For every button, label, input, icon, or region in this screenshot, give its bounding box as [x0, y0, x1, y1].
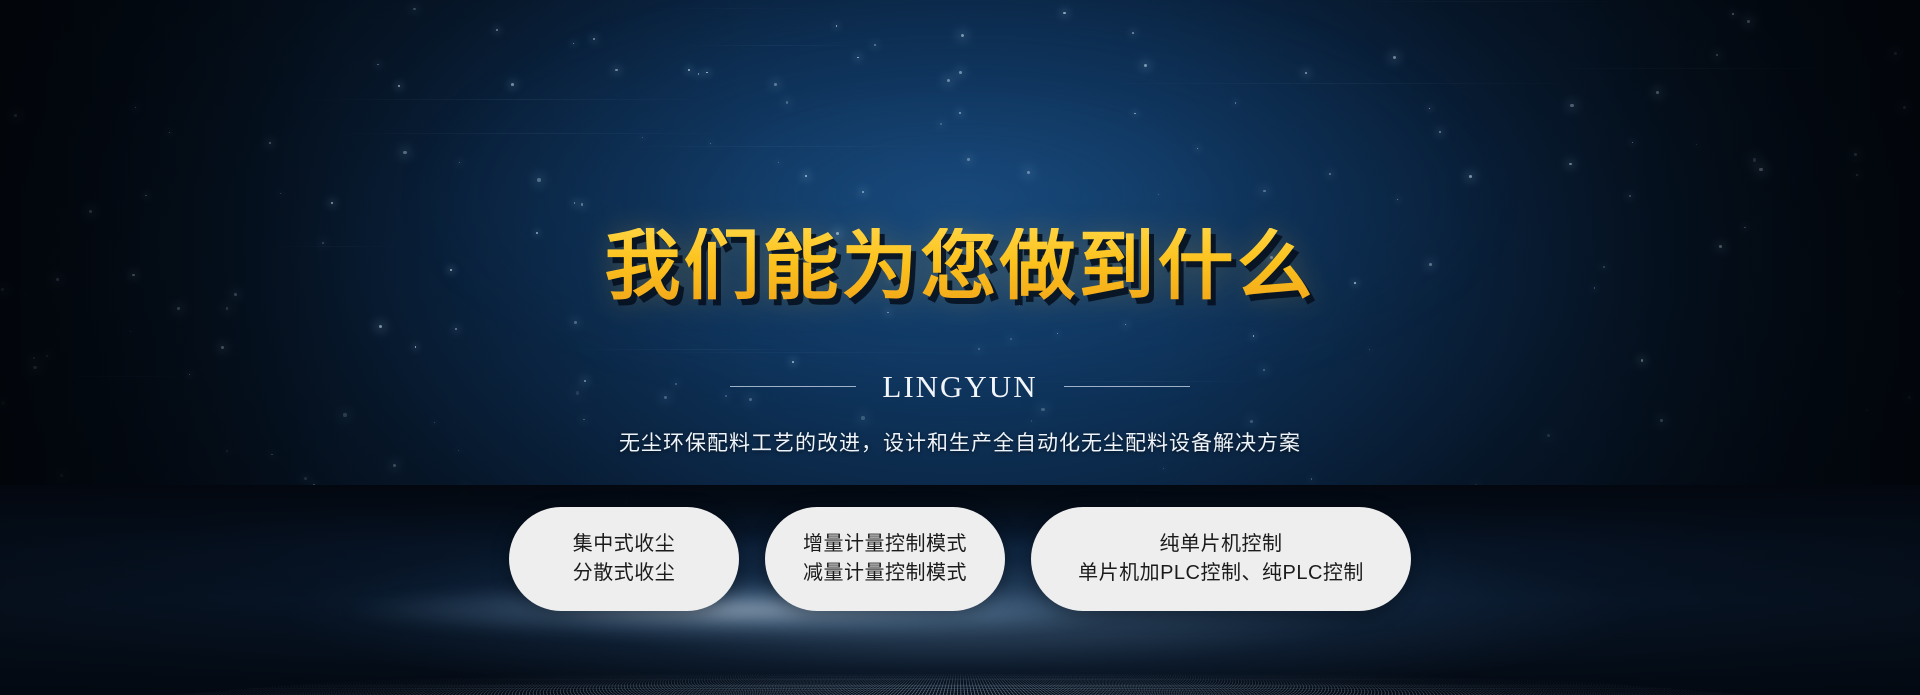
feature-card-metering-control-mode[interactable]: 增量计量控制模式 减量计量控制模式 — [765, 507, 1005, 611]
feature-card-list: 集中式收尘 分散式收尘 增量计量控制模式 减量计量控制模式 纯单片机控制 单片机… — [509, 507, 1411, 611]
page-title: 我们能为您做到什么 — [605, 228, 1316, 304]
banner-content: 我们能为您做到什么 LINGYUN 无尘环保配料工艺的改进，设计和生产全自动化无… — [0, 0, 1920, 695]
divider-line-right — [1064, 386, 1190, 387]
tagline: 无尘环保配料工艺的改进，设计和生产全自动化无尘配料设备解决方案 — [619, 427, 1301, 457]
card-line: 减量计量控制模式 — [803, 563, 967, 583]
card-line: 分散式收尘 — [573, 563, 676, 583]
card-line: 集中式收尘 — [573, 534, 676, 554]
card-line: 增量计量控制模式 — [803, 534, 967, 554]
brand-name-en: LINGYUN — [882, 369, 1037, 405]
card-line: 纯单片机控制 — [1160, 534, 1283, 554]
feature-card-dust-collection[interactable]: 集中式收尘 分散式收尘 — [509, 507, 739, 611]
divider-line-left — [730, 386, 856, 387]
card-line: 单片机加PLC控制、纯PLC控制 — [1078, 563, 1364, 583]
feature-card-controller-type[interactable]: 纯单片机控制 单片机加PLC控制、纯PLC控制 — [1031, 507, 1411, 611]
brand-divider-row: LINGYUN — [730, 369, 1189, 405]
hero-banner: 我们能为您做到什么 LINGYUN 无尘环保配料工艺的改进，设计和生产全自动化无… — [0, 0, 1920, 695]
